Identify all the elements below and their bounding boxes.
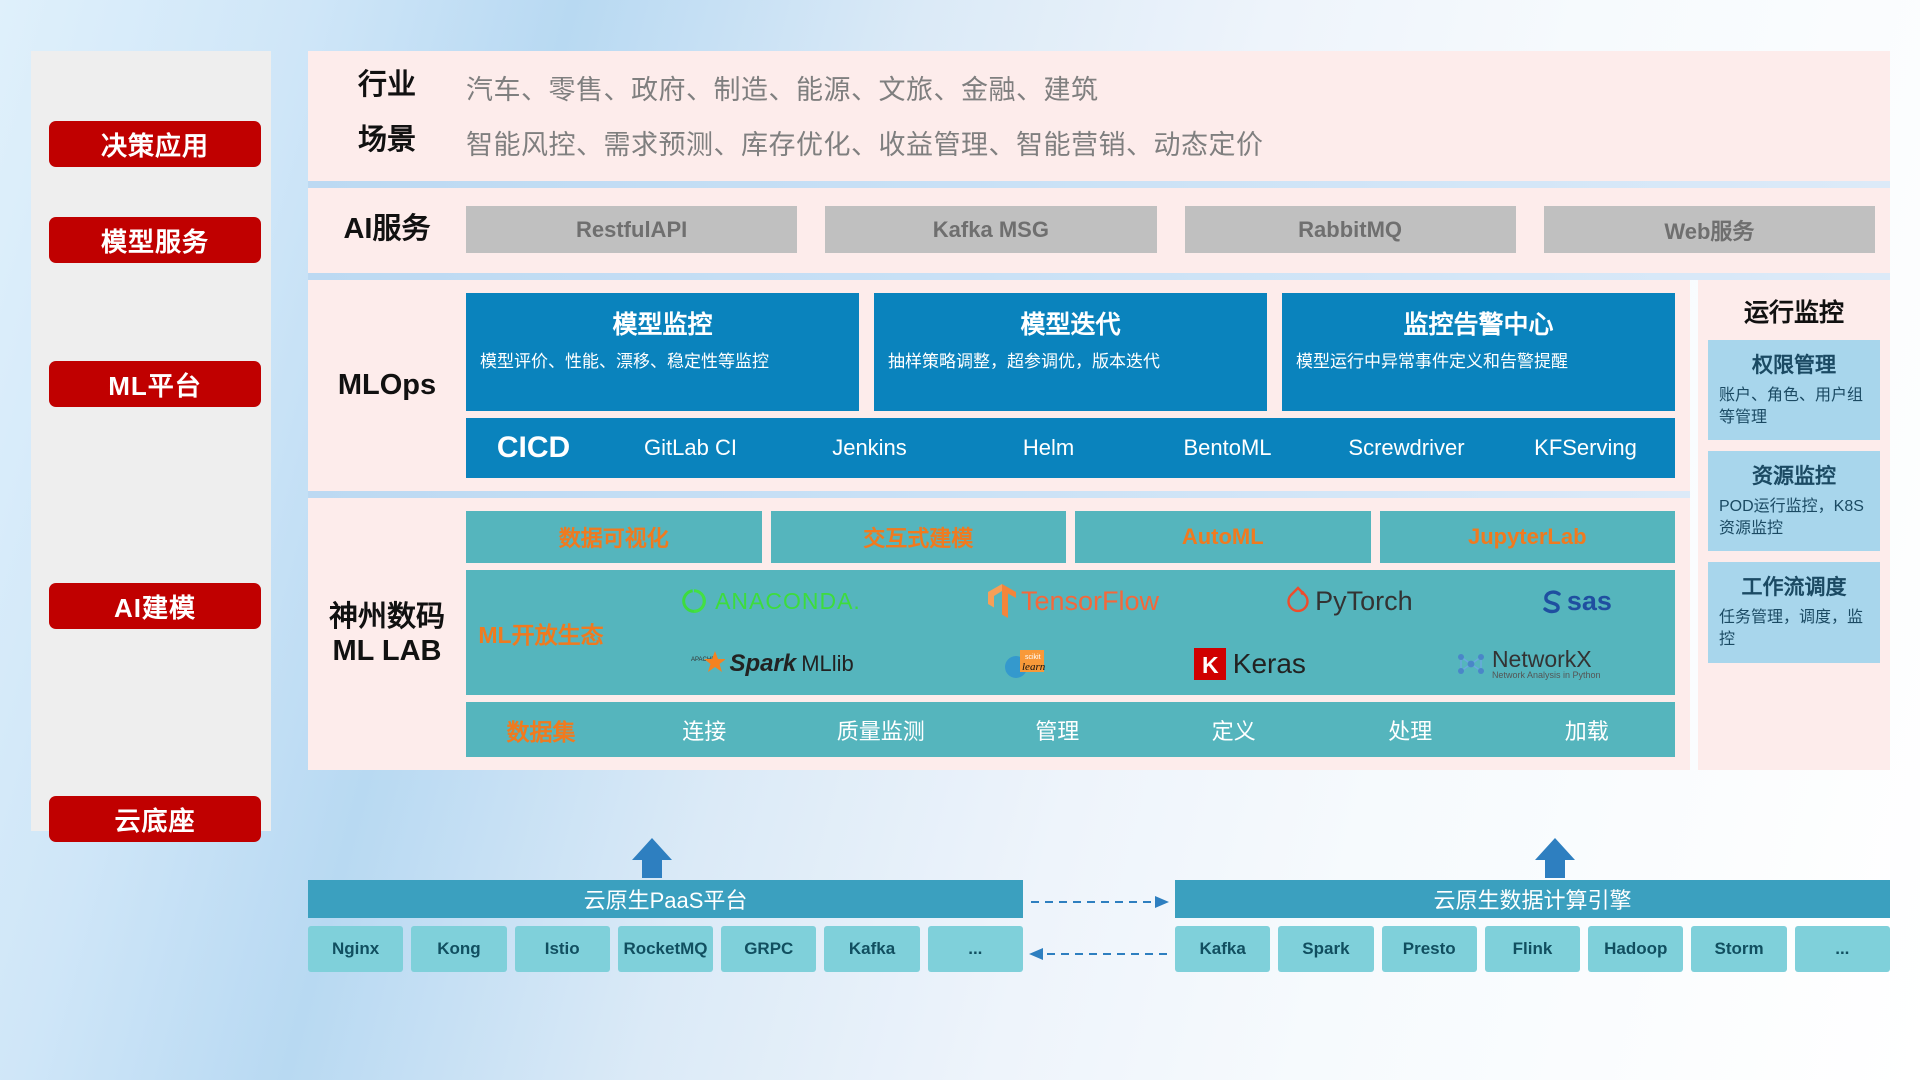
keras-logo: K Keras <box>1194 648 1306 680</box>
anaconda-icon <box>679 586 709 616</box>
chip-spark[interactable]: Spark <box>1278 926 1373 972</box>
chip-more-right[interactable]: ... <box>1795 926 1890 972</box>
scikit-learn-icon: scikit learn <box>1003 647 1045 681</box>
chip-presto[interactable]: Presto <box>1382 926 1477 972</box>
mlops-band: MLOps 模型监控 模型评价、性能、漂移、稳定性等监控 模型迭代 抽样策略调整… <box>308 280 1690 491</box>
ml-ecosystem-bar: ML开放生态 <box>466 570 1675 695</box>
mllib-label: MLlib <box>801 651 854 677</box>
ai-service-label: AI服务 <box>308 212 466 246</box>
monitor-card-permissions[interactable]: 权限管理 账户、角色、用户组等管理 <box>1708 340 1880 440</box>
band-divider <box>308 181 1890 188</box>
chip-kafka-right[interactable]: Kafka <box>1175 926 1270 972</box>
dashed-connectors <box>1023 880 1175 980</box>
uplink-arrows <box>308 838 1890 878</box>
pytorch-logo: PyTorch <box>1285 586 1413 617</box>
dataset-bar: 数据集 连接 质量监测 管理 定义 处理 加载 <box>466 702 1675 757</box>
chip-kafka[interactable]: Kafka <box>824 926 919 972</box>
paas-chips: Nginx Kong Istio RocketMQ GRPC Kafka ... <box>308 926 1023 972</box>
cicd-item-gitlab-ci[interactable]: GitLab CI <box>601 434 780 462</box>
rail-item-model-service[interactable]: 模型服务 <box>49 217 261 263</box>
monitor-card-resources[interactable]: 资源监控 POD运行监控，K8S资源监控 <box>1708 451 1880 551</box>
rail-label: ML平台 <box>108 366 202 403</box>
monitor-card-workflow[interactable]: 工作流调度 任务管理，调度，监控 <box>1708 562 1880 662</box>
networkx-label: NetworkX <box>1492 648 1601 671</box>
rail-label: 决策应用 <box>101 126 209 163</box>
card-desc: 模型评价、性能、漂移、稳定性等监控 <box>480 350 845 373</box>
chip-grpc[interactable]: GRPC <box>721 926 816 972</box>
networkx-sub: Network Analysis in Python <box>1492 671 1601 680</box>
scenario-label: 场景 <box>308 123 466 157</box>
card-title: 模型迭代 <box>888 305 1253 341</box>
arrow-up-right-icon <box>1535 838 1575 878</box>
dataset-item-quality[interactable]: 质量监测 <box>793 714 970 746</box>
pytorch-label: PyTorch <box>1315 586 1413 617</box>
tensorflow-label: TensorFlow <box>1021 586 1159 617</box>
keras-icon: K <box>1194 648 1226 680</box>
pytorch-icon <box>1285 586 1311 616</box>
band-divider <box>308 491 1690 498</box>
industry-label: 行业 <box>308 68 466 102</box>
tab-automl[interactable]: AutoML <box>1075 511 1371 563</box>
data-engine-bar[interactable]: 云原生数据计算引擎 <box>1175 880 1890 918</box>
service-chip-kafka-msg[interactable]: Kafka MSG <box>825 206 1156 253</box>
arrow-up-left-icon <box>632 838 672 878</box>
card-title: 模型监控 <box>480 305 845 341</box>
cicd-item-helm[interactable]: Helm <box>959 434 1138 462</box>
monitor-panel: 运行监控 权限管理 账户、角色、用户组等管理 资源监控 POD运行监控，K8S资… <box>1698 280 1890 770</box>
card-desc: 任务管理，调度，监控 <box>1719 607 1869 650</box>
service-chip-web[interactable]: Web服务 <box>1544 206 1875 253</box>
dataset-label: 数据集 <box>466 713 616 747</box>
card-desc: 抽样策略调整，超参调优，版本迭代 <box>888 350 1253 373</box>
dataset-item-manage[interactable]: 管理 <box>969 714 1146 746</box>
sas-icon <box>1539 588 1565 614</box>
cicd-item-jenkins[interactable]: Jenkins <box>780 434 959 462</box>
svg-text:K: K <box>1202 652 1219 678</box>
keras-label: Keras <box>1233 648 1306 680</box>
mlops-card-model-iteration[interactable]: 模型迭代 抽样策略调整，超参调优，版本迭代 <box>874 293 1267 411</box>
diagram-canvas: 决策应用 模型服务 ML平台 AI建模 云底座 行业 汽车、零售、政府、制造、能… <box>0 0 1920 1080</box>
chip-more-left[interactable]: ... <box>928 926 1023 972</box>
rail-item-ai-modeling[interactable]: AI建模 <box>49 583 261 629</box>
rail-item-decision-app[interactable]: 决策应用 <box>49 121 261 167</box>
eco-logo-row-1: ANACONDA. TensorFlo <box>616 570 1675 633</box>
chip-nginx[interactable]: Nginx <box>308 926 403 972</box>
cicd-item-screwdriver[interactable]: Screwdriver <box>1317 434 1496 462</box>
tensorflow-icon <box>987 584 1017 618</box>
tab-data-visualization[interactable]: 数据可视化 <box>466 511 762 563</box>
dataset-item-connect[interactable]: 连接 <box>616 714 793 746</box>
tab-jupyterlab[interactable]: JupyterLab <box>1380 511 1676 563</box>
service-chip-rabbitmq[interactable]: RabbitMQ <box>1185 206 1516 253</box>
industry-value: 汽车、零售、政府、制造、能源、文旅、金融、建筑 <box>466 68 1099 107</box>
mlops-card-alert-center[interactable]: 监控告警中心 模型运行中异常事件定义和告警提醒 <box>1282 293 1675 411</box>
ml-lab-label: 神州数码 ML LAB <box>308 600 466 668</box>
networkx-icon <box>1455 649 1487 679</box>
dataset-item-define[interactable]: 定义 <box>1146 714 1323 746</box>
modeling-band: 神州数码 ML LAB 数据可视化 交互式建模 AutoML JupyterLa… <box>308 498 1690 770</box>
platform-split: MLOps 模型监控 模型评价、性能、漂移、稳定性等监控 模型迭代 抽样策略调整… <box>308 280 1890 770</box>
tensorflow-logo: TensorFlow <box>987 584 1159 618</box>
industry-scenario-band: 行业 汽车、零售、政府、制造、能源、文旅、金融、建筑 场景 智能风控、需求预测、… <box>308 51 1890 181</box>
rail-label: AI建模 <box>114 588 196 625</box>
card-desc: POD运行监控，K8S资源监控 <box>1719 496 1869 539</box>
tab-interactive-modeling[interactable]: 交互式建模 <box>771 511 1067 563</box>
card-title: 工作流调度 <box>1719 571 1869 601</box>
ai-service-chips: RestfulAPI Kafka MSG RabbitMQ Web服务 <box>466 206 1890 253</box>
spark-mllib-logo: APACHE Spark MLlib <box>691 649 854 679</box>
monitor-title: 运行监控 <box>1708 293 1880 329</box>
paas-bar[interactable]: 云原生PaaS平台 <box>308 880 1023 918</box>
mlops-label: MLOps <box>308 368 466 402</box>
band-divider <box>308 273 1890 280</box>
chip-kong[interactable]: Kong <box>411 926 506 972</box>
card-desc: 账户、角色、用户组等管理 <box>1719 385 1869 428</box>
cicd-bar: CICD GitLab CI Jenkins Helm BentoML Scre… <box>466 418 1675 478</box>
ai-service-band: AI服务 RestfulAPI Kafka MSG RabbitMQ Web服务 <box>308 188 1890 273</box>
rail-label: 云底座 <box>114 801 195 838</box>
chip-storm[interactable]: Storm <box>1691 926 1786 972</box>
eco-logo-row-2: APACHE Spark MLlib <box>616 633 1675 696</box>
card-title: 监控告警中心 <box>1296 305 1661 341</box>
networkx-logo: NetworkX Network Analysis in Python <box>1455 648 1601 680</box>
chip-hadoop[interactable]: Hadoop <box>1588 926 1683 972</box>
card-title: 资源监控 <box>1719 460 1869 490</box>
spark-label: Spark <box>730 650 797 678</box>
dataset-item-process[interactable]: 处理 <box>1322 714 1499 746</box>
sas-label: sas <box>1567 586 1612 617</box>
left-rail: 决策应用 模型服务 ML平台 AI建模 云底座 <box>31 51 271 831</box>
mlops-cards: 模型监控 模型评价、性能、漂移、稳定性等监控 模型迭代 抽样策略调整，超参调优，… <box>466 293 1675 411</box>
dataset-item-load[interactable]: 加载 <box>1499 714 1676 746</box>
spark-icon: APACHE <box>691 649 725 679</box>
modeling-tabs: 数据可视化 交互式建模 AutoML JupyterLab <box>466 511 1675 563</box>
card-desc: 模型运行中异常事件定义和告警提醒 <box>1296 350 1661 373</box>
scenario-value: 智能风控、需求预测、库存优化、收益管理、智能营销、动态定价 <box>466 123 1264 162</box>
scikit-learn-logo: scikit learn <box>1003 647 1045 681</box>
dashed-arrows-icon <box>1023 880 1175 980</box>
card-title: 权限管理 <box>1719 349 1869 379</box>
chip-flink[interactable]: Flink <box>1485 926 1580 972</box>
svg-text:scikit: scikit <box>1025 654 1041 661</box>
rail-item-ml-platform[interactable]: ML平台 <box>49 361 261 407</box>
cicd-item-kfserving[interactable]: KFServing <box>1496 434 1675 462</box>
scenario-row: 场景 智能风控、需求预测、库存优化、收益管理、智能营销、动态定价 <box>308 123 1890 162</box>
industry-row: 行业 汽车、零售、政府、制造、能源、文旅、金融、建筑 <box>308 68 1890 107</box>
eco-label: ML开放生态 <box>466 616 616 650</box>
sas-logo: sas <box>1539 586 1612 617</box>
cloud-foundation: 云原生PaaS平台 Nginx Kong Istio RocketMQ GRPC… <box>308 880 1890 980</box>
paas-group: 云原生PaaS平台 Nginx Kong Istio RocketMQ GRPC… <box>308 880 1023 972</box>
anaconda-logo: ANACONDA. <box>679 586 861 616</box>
chip-istio[interactable]: Istio <box>515 926 610 972</box>
svg-text:learn: learn <box>1022 661 1045 673</box>
main-column: 行业 汽车、零售、政府、制造、能源、文旅、金融、建筑 场景 智能风控、需求预测、… <box>308 51 1890 770</box>
anaconda-label: ANACONDA. <box>715 588 861 615</box>
data-engine-group: 云原生数据计算引擎 Kafka Spark Presto Flink Hadoo… <box>1175 880 1890 972</box>
cicd-item-bentoml[interactable]: BentoML <box>1138 434 1317 462</box>
rail-item-cloud-base[interactable]: 云底座 <box>49 796 261 842</box>
chip-rocketmq[interactable]: RocketMQ <box>618 926 713 972</box>
service-chip-restfulapi[interactable]: RestfulAPI <box>466 206 797 253</box>
cicd-label: CICD <box>466 431 601 465</box>
rail-label: 模型服务 <box>101 222 209 259</box>
mlops-card-model-monitoring[interactable]: 模型监控 模型评价、性能、漂移、稳定性等监控 <box>466 293 859 411</box>
data-engine-chips: Kafka Spark Presto Flink Hadoop Storm ..… <box>1175 926 1890 972</box>
